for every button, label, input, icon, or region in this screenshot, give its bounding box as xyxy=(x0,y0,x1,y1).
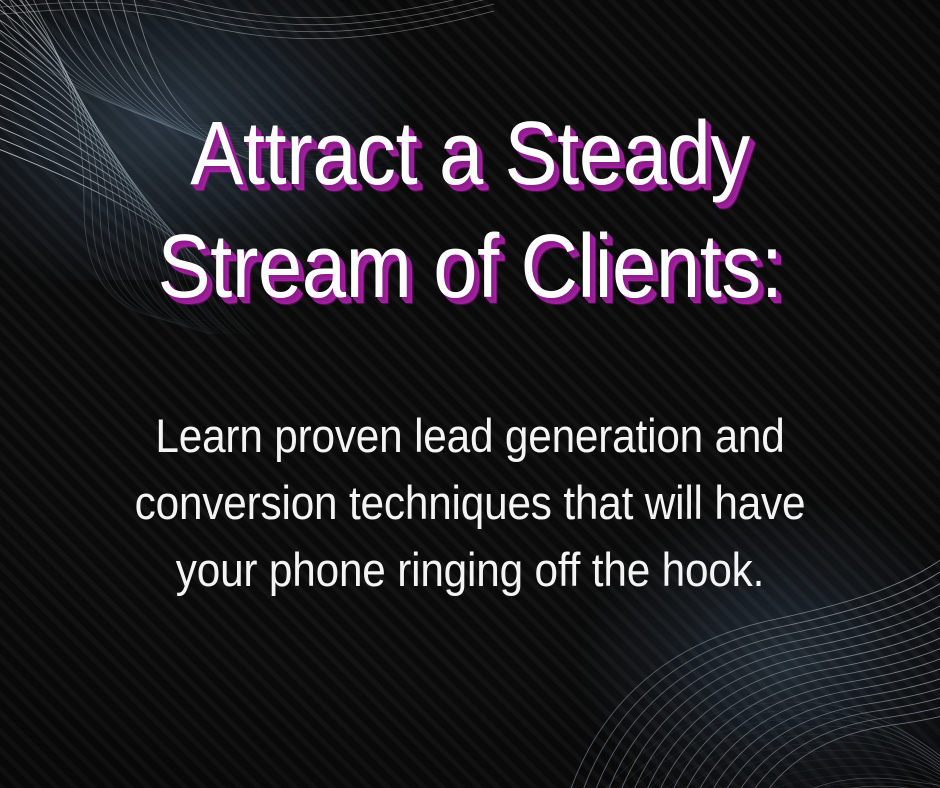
subheadline-block: Learn proven lead generation and convers… xyxy=(47,402,893,603)
subheadline-line-1: Learn proven lead generation and xyxy=(47,402,893,469)
headline-line-1: Attract a Steady xyxy=(54,98,886,211)
headline-line-2-text: Stream of Clients: xyxy=(157,217,782,317)
headline-line-2: Stream of Clients: xyxy=(54,211,886,324)
subheadline-line-2: conversion techniques that will have xyxy=(47,469,893,536)
promo-graphic-canvas: Attract a Steady Stream of Clients: Lear… xyxy=(0,0,940,788)
subheadline-line-3: your phone ringing off the hook. xyxy=(47,536,893,603)
headline-line-1-text: Attract a Steady xyxy=(190,104,750,204)
content-stack: Attract a Steady Stream of Clients: Lear… xyxy=(0,0,940,788)
